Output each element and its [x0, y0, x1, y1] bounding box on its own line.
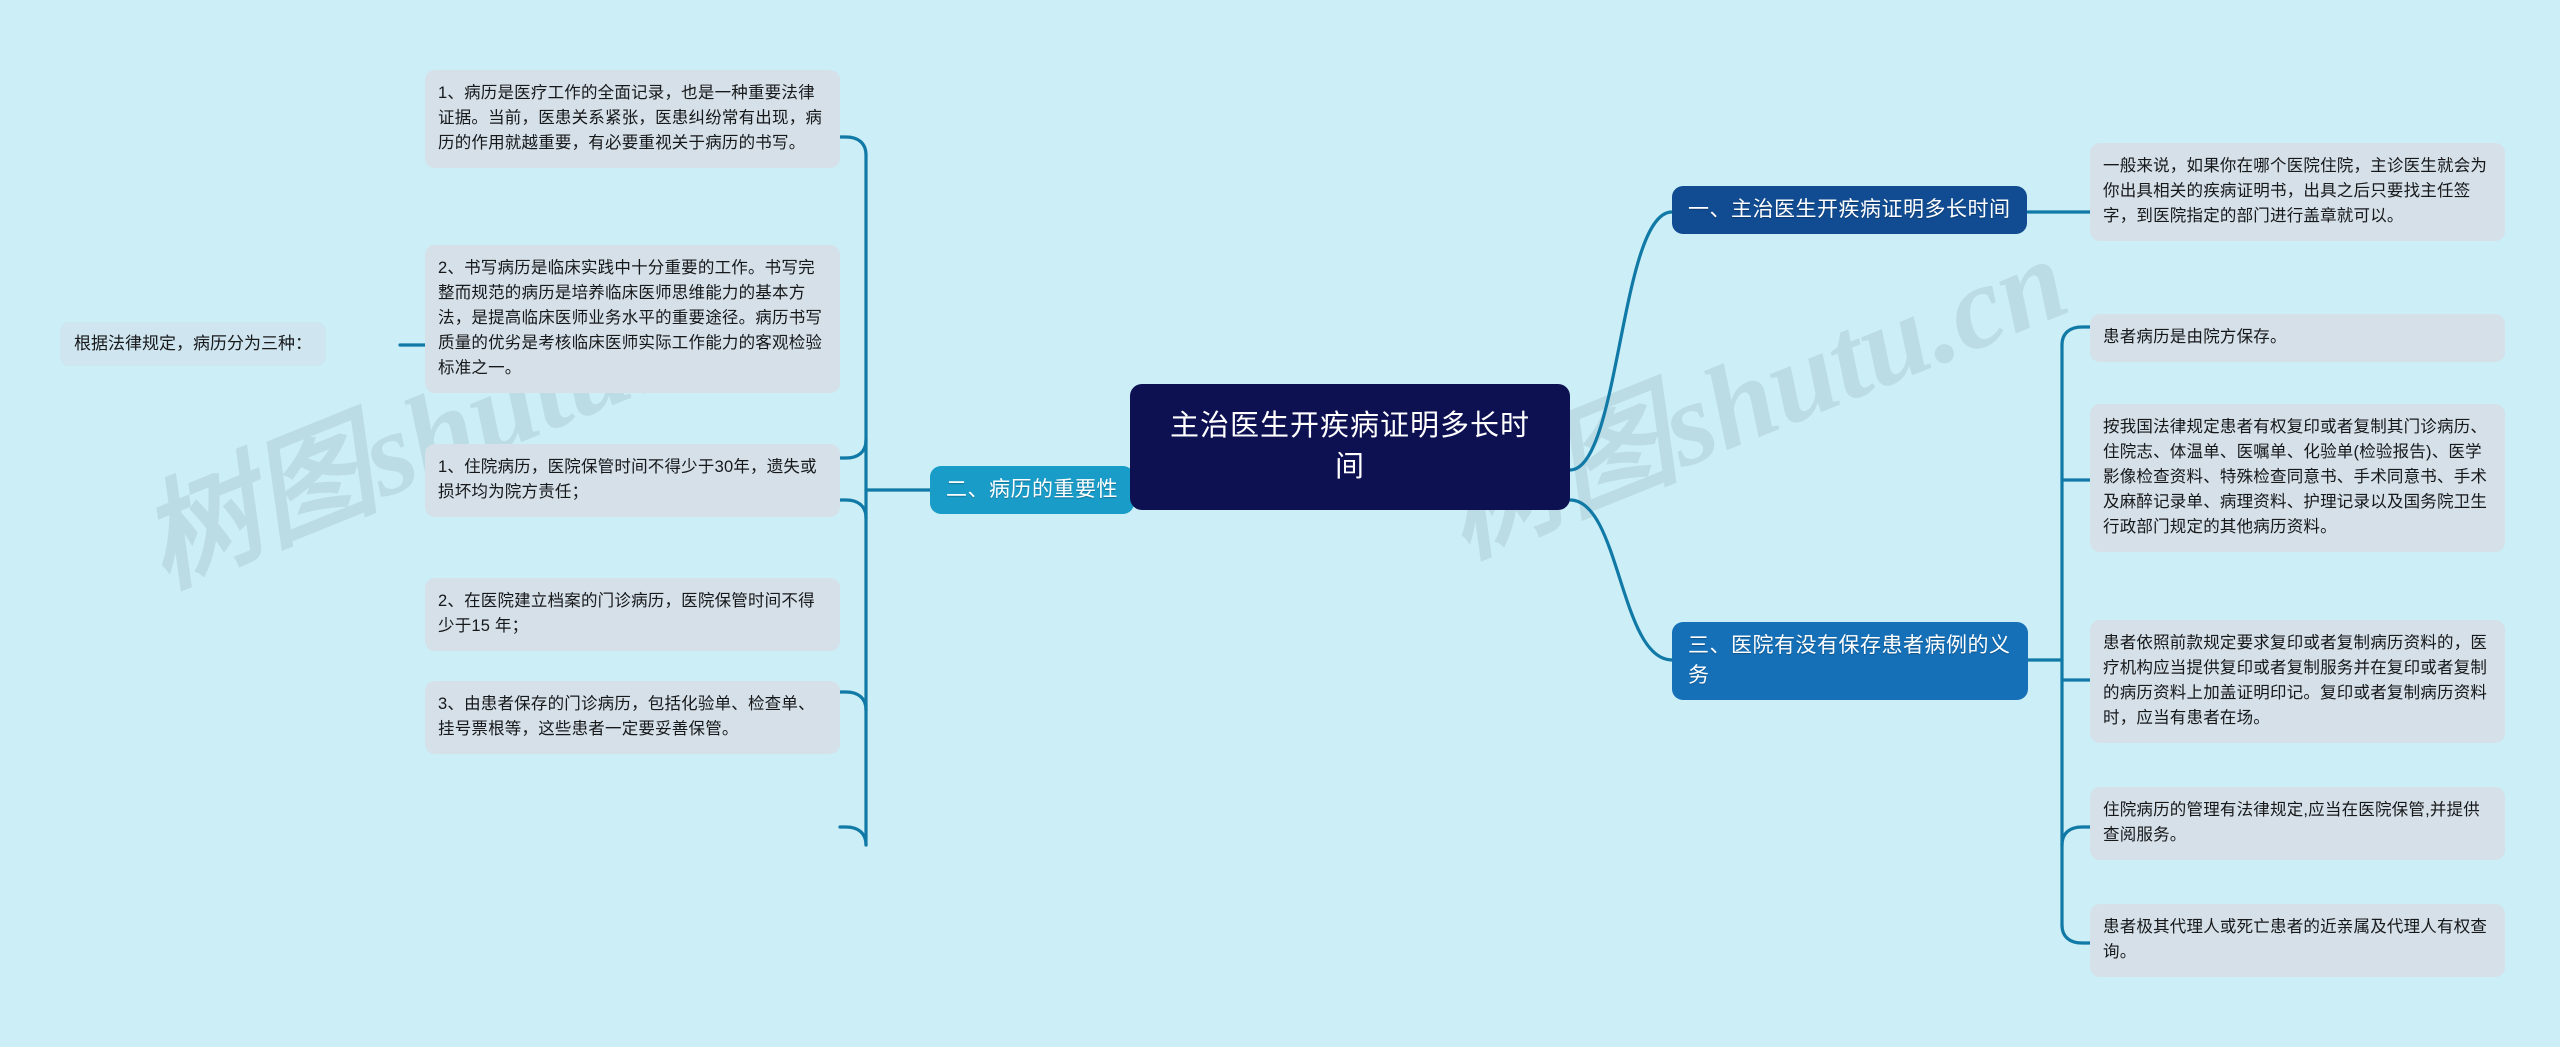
leaf-category-1[interactable]: 1、住院病历，医院保管时间不得少于30年，遗失或损坏均为院方责任；	[425, 444, 840, 517]
link-leaf-5	[840, 827, 866, 845]
leaf-category-2[interactable]: 2、在医院建立档案的门诊病历，医院保管时间不得少于15 年；	[425, 578, 840, 651]
chip-importance[interactable]: 二、病历的重要性	[930, 466, 1134, 514]
chip-branch-3[interactable]: 三、医院有没有保存患者病例的义务	[1672, 622, 2028, 700]
link-leaf-3	[840, 500, 866, 518]
link-root-branch3	[1570, 500, 1672, 660]
link-leaf-2	[840, 440, 866, 458]
leaf-b3-1[interactable]: 患者病历是由院方保存。	[2090, 314, 2505, 362]
leaf-b3-3[interactable]: 患者依照前款规定要求复印或者复制病历资料的，医疗机构应当提供复印或者复制服务并在…	[2090, 620, 2505, 743]
link-leaf-4	[840, 692, 866, 710]
leaf-importance-1[interactable]: 1、病历是医疗工作的全面记录，也是一种重要法律证据。当前，医患关系紧张，医患纠纷…	[425, 70, 840, 168]
leaf-category-3[interactable]: 3、由患者保存的门诊病历，包括化验单、检查单、挂号票根等，这些患者一定要妥善保管…	[425, 681, 840, 754]
root-node[interactable]: 主治医生开疾病证明多长时间	[1130, 384, 1570, 510]
link-b3-leaf-1	[2062, 327, 2090, 345]
leaf-importance-2[interactable]: 2、书写病历是临床实践中十分重要的工作。书写完整而规范的病历是培养临床医师思维能…	[425, 245, 840, 393]
link-b3-leaf-5	[2062, 925, 2090, 943]
leaf-b3-5[interactable]: 患者极其代理人或死亡患者的近亲属及代理人有权查询。	[2090, 904, 2505, 977]
leaf-b3-4[interactable]: 住院病历的管理有法律规定,应当在医院保管,并提供查阅服务。	[2090, 787, 2505, 860]
leaf-b3-2[interactable]: 按我国法律规定患者有权复印或者复制其门诊病历、住院志、体温单、医嘱单、化验单(检…	[2090, 404, 2505, 552]
link-root-branch1	[1570, 212, 1672, 470]
link-b3-leaf-4	[2062, 827, 2090, 845]
link-leaf-1	[840, 137, 866, 155]
node-left-root-label[interactable]: 根据法律规定，病历分为三种：	[60, 322, 326, 366]
leaf-b1-1[interactable]: 一般来说，如果你在哪个医院住院，主诊医生就会为你出具相关的疾病证明书，出具之后只…	[2090, 143, 2505, 241]
mindmap-canvas: 树图shutu.cn 树图shutu.cn	[0, 0, 2560, 1047]
chip-branch-1[interactable]: 一、主治医生开疾病证明多长时间	[1672, 186, 2027, 234]
